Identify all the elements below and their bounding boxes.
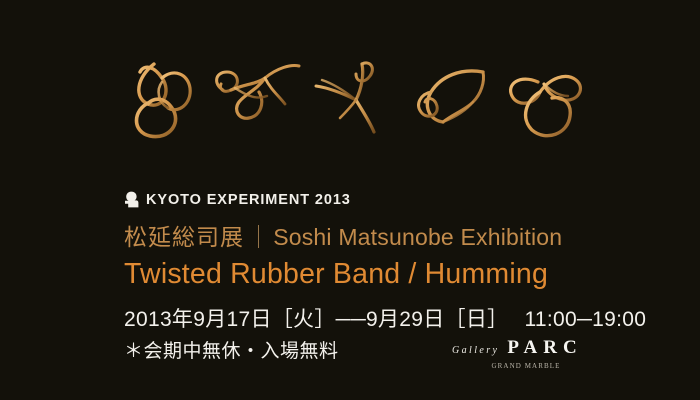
- schedule-times: 11:00─19:00: [508, 308, 646, 331]
- gallery-logo-top: Gallery PARC: [452, 337, 582, 359]
- gallery-logo: Gallery PARC GRAND MARBLE: [452, 337, 582, 370]
- admission-note: ＊会期中無休・入場無料: [124, 336, 339, 363]
- gallery-word: Gallery: [452, 345, 499, 356]
- schedule-line: 2013年9月17日［火］──9月29日［日］11:00─19:00: [124, 303, 646, 333]
- kyoto-experiment-mark-icon: [124, 191, 139, 208]
- event-header: KYOTO EXPERIMENT 2013: [124, 191, 351, 208]
- exhibition-subtitle: 松延総司展｜Soshi Matsunobe Exhibition: [124, 222, 684, 252]
- twisted-rubber-band-clover-loops-icon: [492, 38, 612, 158]
- exhibition-title-japanese: 松延総司展: [124, 224, 244, 250]
- title-separator: ｜: [244, 224, 273, 250]
- artwork-photo-strip: [0, 38, 700, 158]
- gallery-name: PARC: [507, 337, 582, 359]
- gallery-sponsor: GRAND MARBLE: [470, 362, 582, 370]
- artwork-photo-5: [492, 38, 612, 158]
- exhibition-main-title: Twisted Rubber Band / Humming: [124, 254, 684, 294]
- title-block: 松延総司展｜Soshi Matsunobe Exhibition Twisted…: [124, 222, 684, 294]
- event-header-label: KYOTO EXPERIMENT 2013: [146, 192, 351, 208]
- schedule-dates: 2013年9月17日［火］──9月29日［日］: [124, 308, 508, 331]
- exhibition-title-english: Soshi Matsunobe Exhibition: [273, 224, 562, 250]
- exhibition-poster: KYOTO EXPERIMENT 2013 松延総司展｜Soshi Matsun…: [0, 0, 700, 400]
